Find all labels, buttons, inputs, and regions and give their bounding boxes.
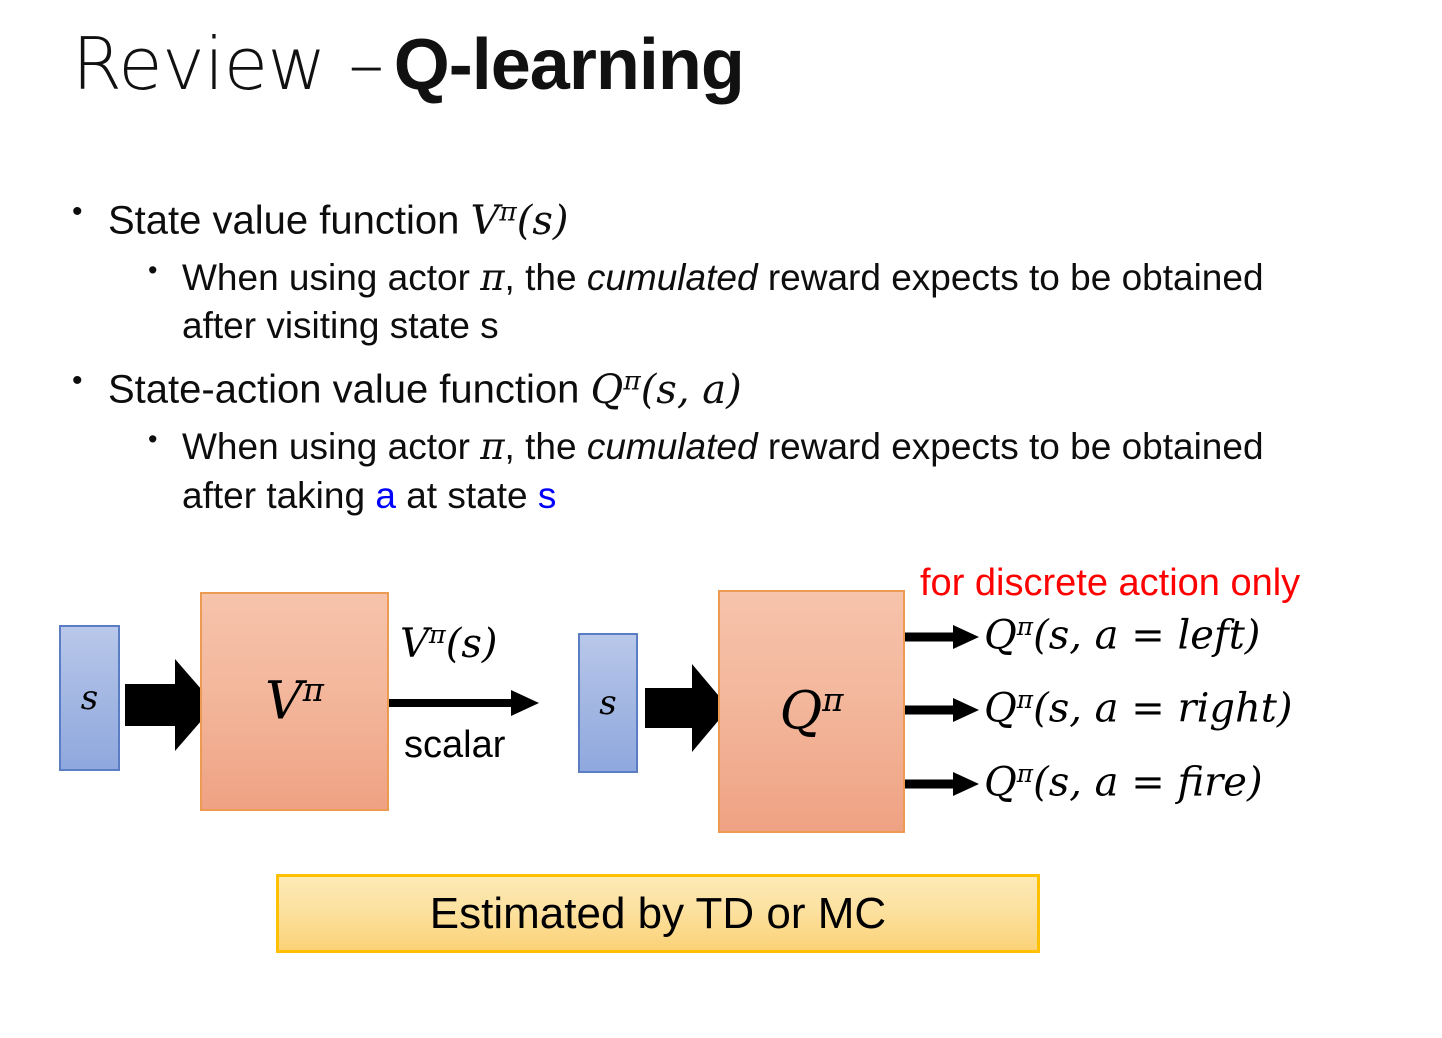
estimated-by-bar-label: Estimated by TD or MC (430, 889, 886, 939)
v-function-box: Vπ (200, 592, 389, 811)
q-output-arrow-left (905, 625, 979, 649)
v-output-math-label: Vπ(s) (400, 620, 497, 667)
q-branch-input-state-box: s (578, 633, 638, 773)
q-output-arrow-fire (905, 772, 979, 796)
q-output-label-left: Qπ(s, a = left) (984, 612, 1260, 659)
value-function-diagram: s Vπ Vπ(s) scalar s Qπ for discrete acti… (0, 0, 1442, 1038)
q-branch-input-block-arrow (645, 662, 729, 754)
v-function-box-label: Vπ (265, 671, 324, 731)
slide-canvas: Review –Q-learning State value function … (0, 0, 1442, 1038)
q-output-label-right: Qπ(s, a = right) (984, 685, 1292, 732)
q-output-arrow-right (905, 698, 979, 722)
v-branch-input-state-box: s (59, 625, 120, 771)
q-function-box: Qπ (718, 590, 905, 833)
v-output-caption: scalar (404, 724, 505, 767)
q-output-label-fire: Qπ(s, a = fire) (984, 759, 1263, 806)
v-output-arrow (389, 690, 539, 716)
q-branch-input-state-label: s (599, 683, 616, 723)
discrete-action-note: for discrete action only (920, 562, 1300, 605)
estimated-by-bar: Estimated by TD or MC (276, 874, 1040, 953)
v-branch-input-state-label: s (81, 678, 98, 718)
q-function-box-label: Qπ (780, 681, 844, 741)
